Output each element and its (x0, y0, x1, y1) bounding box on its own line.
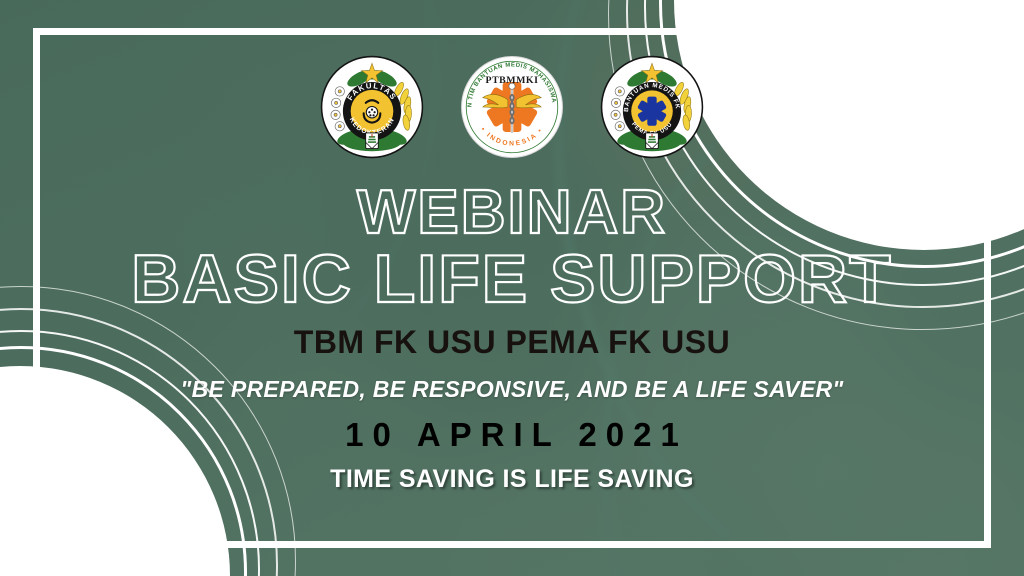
logo-row: FAKULTAS KEDOKTERAN (320, 55, 704, 159)
poster-content: FAKULTAS KEDOKTERAN (0, 0, 1024, 576)
webinar-poster: FAKULTAS KEDOKTERAN (0, 0, 1024, 576)
event-date: 10 APRIL 2021 (336, 416, 688, 454)
headline: WEBINAR BASIC LIFE SUPPORT (131, 183, 892, 312)
headline-line-2: BASIC LIFE SUPPORT (131, 247, 892, 312)
slogan: TIME SAVING IS LIFE SAVING (330, 465, 694, 494)
tagline: "BE PREPARED, BE RESPONSIVE, AND BE A LI… (180, 376, 843, 403)
organizers-line: TBM FK USU PEMA FK USU (294, 324, 730, 361)
svg-text:PTBMMKI: PTBMMKI (486, 75, 539, 86)
fakultas-kedokteran-usu-logo: FAKULTAS KEDOKTERAN (320, 55, 424, 159)
headline-line-1: WEBINAR (131, 183, 892, 243)
tbm-fk-usu-logo: TIM BANTUAN MEDIS FK USU PEMA FK USU (600, 55, 704, 159)
ptbmmki-logo: PTBMMKI PERHIMPUNAN TIM BANTUAN MEDIS MA… (460, 55, 564, 159)
